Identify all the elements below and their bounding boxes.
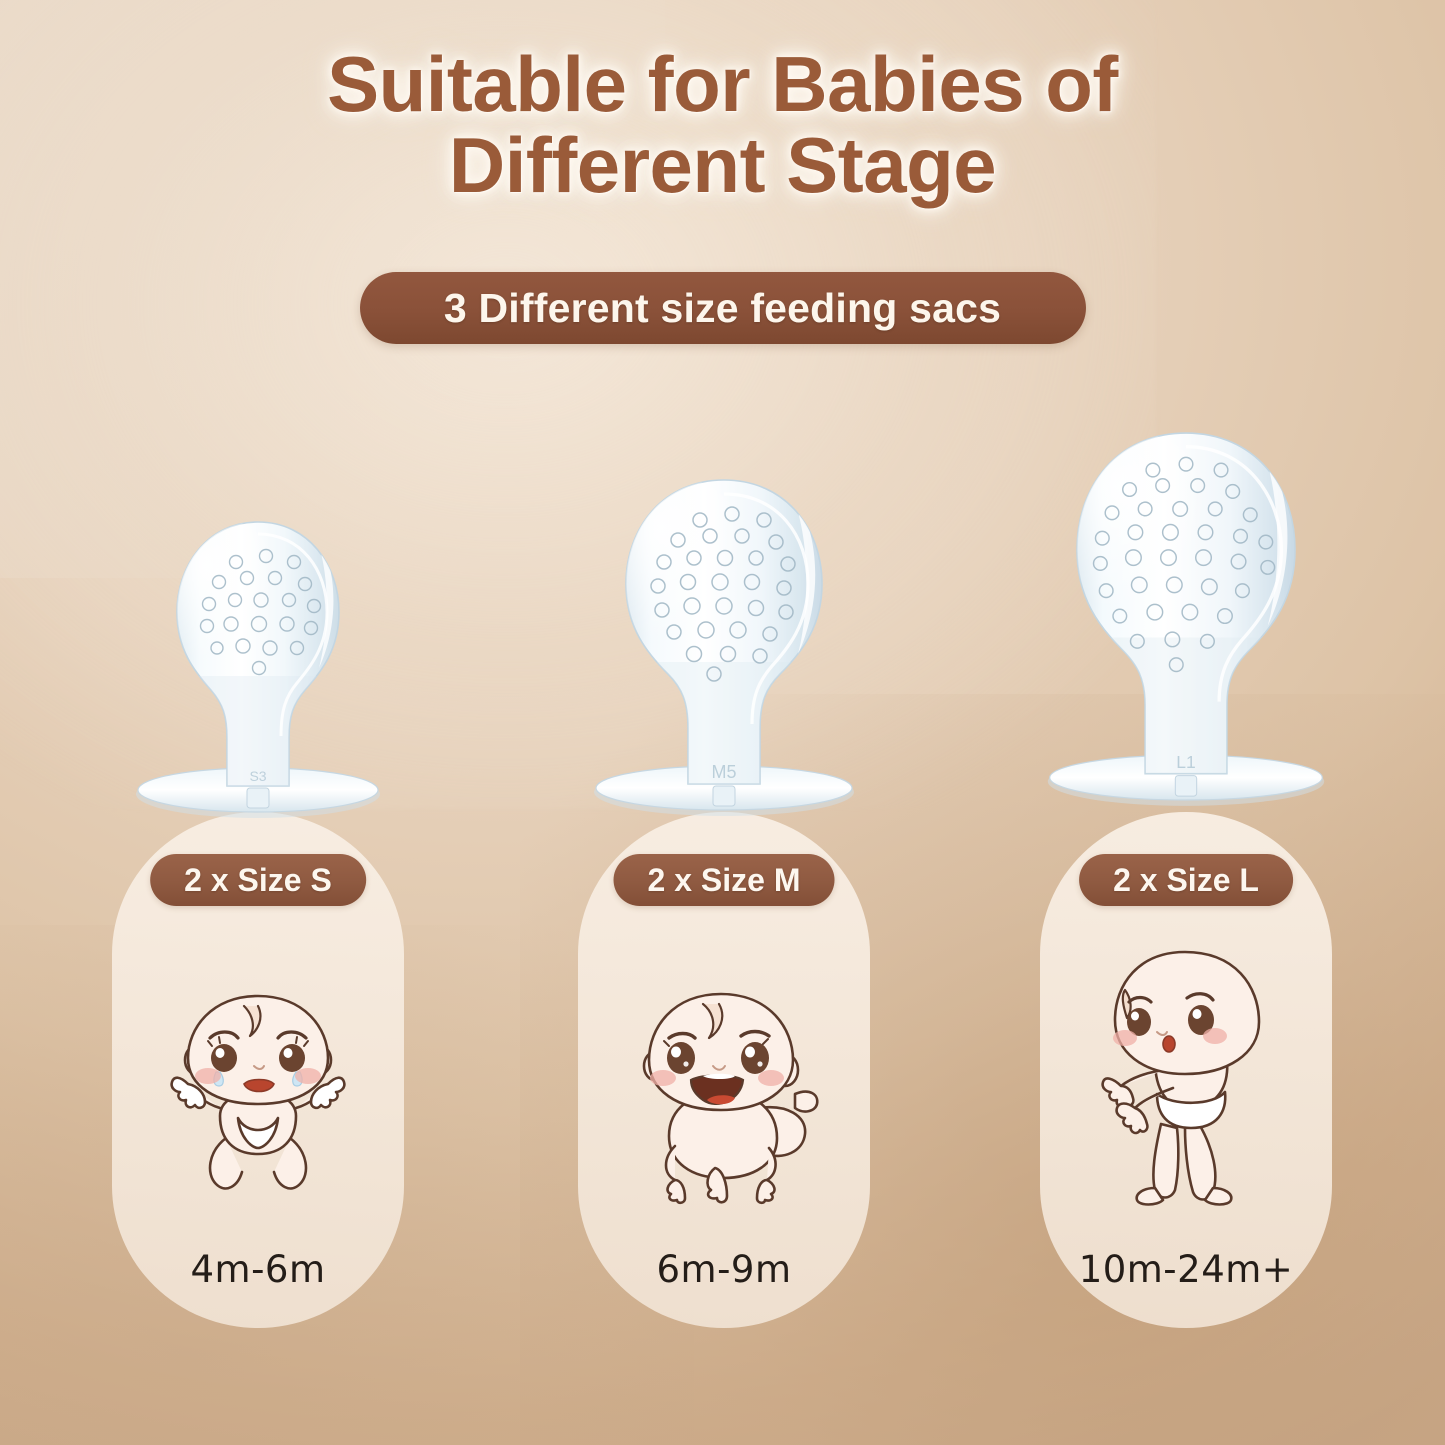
age-range-l: 10m-24m+: [1040, 1248, 1332, 1291]
standing-toddler-illustration: [1040, 948, 1332, 1214]
size-badge-label-m: 2 x Size M: [648, 862, 801, 899]
baby-svg-l: [1081, 948, 1291, 1214]
size-badge-l: 2 x Size L: [1079, 854, 1293, 906]
feeder-embossed-mark-m: M5: [711, 762, 736, 782]
product-infographic: Suitable for Babies of Different Stage 3…: [0, 0, 1445, 1445]
crying-lying-baby-illustration: [112, 988, 404, 1210]
silicone-feeding-sac-size-m: M5: [578, 462, 870, 827]
feeder-embossed-mark-s: S3: [249, 768, 266, 784]
silicone-feeding-sac-size-s: S3: [112, 500, 404, 830]
feeder-base-tab-s: [247, 788, 269, 808]
size-badge-label-l: 2 x Size L: [1113, 862, 1259, 899]
age-range-m: 6m-9m: [578, 1248, 870, 1291]
feeder-svg-m: M5: [582, 462, 867, 827]
baby-svg-s: [158, 988, 358, 1210]
feeder-embossed-mark-l: L1: [1176, 752, 1195, 772]
feeder-base-tab-m: [713, 786, 735, 806]
size-columns: S3 2 x Size S: [0, 0, 1445, 1445]
silicone-feeding-sac-size-l: L1: [1040, 412, 1332, 822]
feeder-base-tab-l: [1175, 776, 1196, 796]
baby-svg-m: [619, 988, 829, 1210]
size-badge-label-s: 2 x Size S: [184, 862, 332, 899]
age-range-s: 4m-6m: [112, 1248, 404, 1291]
feeder-svg-l: L1: [1040, 412, 1332, 822]
size-badge-m: 2 x Size M: [614, 854, 835, 906]
baby-mouth-l: [1163, 1036, 1175, 1052]
size-badge-s: 2 x Size S: [150, 854, 366, 906]
feeder-svg-s: S3: [123, 500, 393, 830]
smiling-crawling-baby-illustration: [578, 988, 870, 1210]
